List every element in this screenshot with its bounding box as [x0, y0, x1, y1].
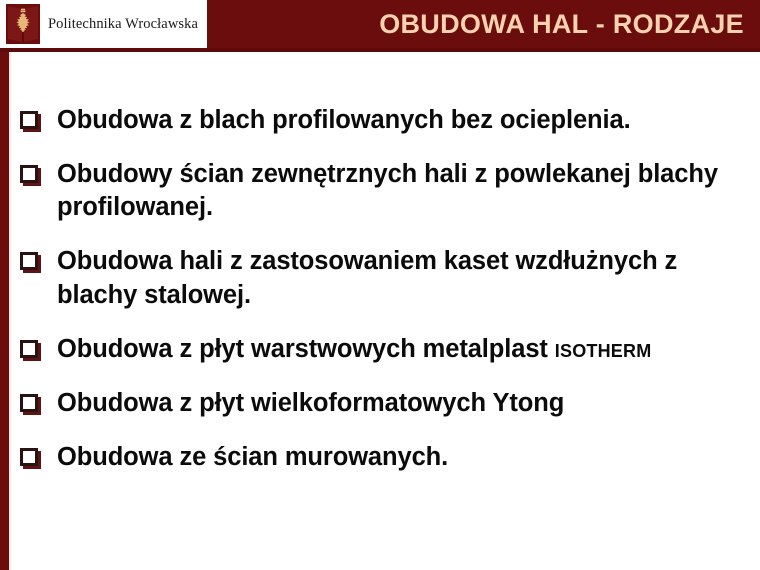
list-item: Obudowa z płyt warstwowych metalplast IS…: [20, 333, 760, 366]
list-item-text-tail: ISOTHERM: [555, 341, 652, 361]
university-name: Politechnika Wrocławska: [48, 16, 198, 33]
slide-title: OBUDOWA HAL - RODZAJE: [379, 0, 744, 48]
checkbox-square-icon: [20, 448, 38, 466]
left-accent-hairline: [9, 52, 11, 570]
checkbox-square-icon: [20, 111, 38, 129]
university-logo: Politechnika Wrocławska: [0, 0, 207, 48]
list-item: Obudowa z blach profilowanych bez ociepl…: [20, 104, 760, 137]
bullet-list: Obudowa z blach profilowanych bez ociepl…: [20, 104, 760, 474]
list-item-text: Obudowa hali z zastosowaniem kaset wzdłu…: [57, 245, 757, 311]
checkbox-square-icon: [20, 252, 38, 270]
list-item-text: Obudowa z płyt warstwowych metalplast IS…: [57, 333, 651, 366]
list-item: Obudowy ścian zewnętrznych hali z powlek…: [20, 158, 760, 224]
checkbox-square-icon: [20, 340, 38, 358]
eagle-shield-emblem: [6, 4, 40, 44]
checkbox-square-icon: [20, 165, 38, 183]
list-item: Obudowa z płyt wielkoformatowych Ytong: [20, 387, 760, 420]
left-accent-border: [0, 52, 9, 570]
list-item-text: Obudowa ze ścian murowanych.: [57, 441, 448, 474]
checkbox-square-icon: [20, 394, 38, 412]
list-item-text: Obudowy ścian zewnętrznych hali z powlek…: [57, 158, 757, 224]
list-item: Obudowa hali z zastosowaniem kaset wzdłu…: [20, 245, 760, 311]
list-item-text: Obudowa z blach profilowanych bez ociepl…: [57, 104, 631, 137]
header-underline: [0, 48, 760, 52]
list-item-text: Obudowa z płyt wielkoformatowych Ytong: [57, 387, 564, 420]
list-item: Obudowa ze ścian murowanych.: [20, 441, 760, 474]
presentation-slide: Politechnika Wrocławska OBUDOWA HAL - RO…: [0, 0, 760, 570]
